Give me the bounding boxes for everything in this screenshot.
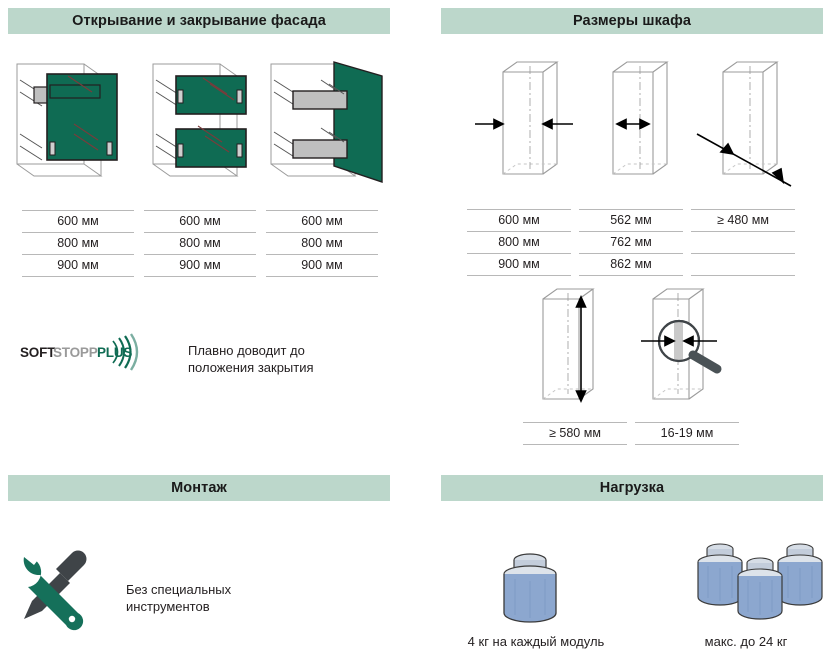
panel-thickness: 16-19 мм xyxy=(635,422,739,445)
panel-mounting-title: Монтаж xyxy=(8,475,390,501)
logo-soft-text: SOFT xyxy=(20,345,56,360)
cabinet-diagram-depth xyxy=(681,56,816,191)
panel-facade: Открывание и закрывание фасада xyxy=(8,8,390,364)
table-row: 900 мм xyxy=(22,254,134,277)
panel-load: Нагрузка xyxy=(441,475,823,661)
panel-mounting: Монтаж Без специальных инструментов xyxy=(8,475,390,661)
cabinet-outer-width: 600 мм 800 мм 900 мм xyxy=(467,209,571,276)
load-caption-single: 4 кг на каждый модуль xyxy=(441,634,631,649)
table-row: 900 мм xyxy=(467,253,571,276)
logo-plus-text: PLUS xyxy=(97,345,132,360)
table-row: 862 мм xyxy=(579,253,683,276)
weight-icon xyxy=(485,541,575,631)
load-caption-multi: макс. до 24 кг xyxy=(671,634,821,649)
mounting-description: Без специальных инструментов xyxy=(126,581,306,615)
cabinet-height: ≥ 580 мм xyxy=(523,422,627,445)
table-row: 800 мм xyxy=(266,232,378,254)
facade-widths-1: 600 мм 800 мм 900 мм xyxy=(22,210,134,277)
panel-cabinet-body: 600 мм 800 мм 900 мм 562 мм 762 мм 862 м… xyxy=(441,34,823,454)
table-row: 16-19 мм xyxy=(635,422,739,445)
table-row: 900 мм xyxy=(144,254,256,277)
softstopp-plus-logo: SOFT STOPP PLUS xyxy=(14,329,144,375)
mounting-description-line1: Без специальных xyxy=(126,581,306,598)
facade-illustration-closed xyxy=(12,54,142,189)
panel-cabinet-title: Размеры шкафа xyxy=(441,8,823,34)
softstopp-description-line2: положения закрытия xyxy=(188,359,368,376)
table-row: 800 мм xyxy=(144,232,256,254)
weights-group-icon xyxy=(684,531,831,631)
panel-cabinet: Размеры шкафа xyxy=(441,8,823,454)
cabinet-diagram-thickness xyxy=(621,279,771,414)
table-row: 600 мм xyxy=(144,210,256,232)
cabinet-depth: ≥ 480 мм xyxy=(691,209,795,276)
inner-width-arrow xyxy=(617,120,649,129)
cabinet-diagram-height xyxy=(511,279,631,414)
width-arrow xyxy=(475,120,573,129)
table-row: 800 мм xyxy=(467,231,571,253)
panel-mounting-body: Без специальных инструментов xyxy=(8,501,390,661)
facade-widths-3: 600 мм 800 мм 900 мм xyxy=(266,210,378,277)
table-row: 562 мм xyxy=(579,209,683,231)
facade-widths-2: 600 мм 800 мм 900 мм xyxy=(144,210,256,277)
table-row: 762 мм xyxy=(579,231,683,253)
table-row: 600 мм xyxy=(467,209,571,231)
table-row xyxy=(691,253,795,276)
table-row: 900 мм xyxy=(266,254,378,277)
facade-illustration-open xyxy=(266,54,396,189)
panel-facade-body: 600 мм 800 мм 900 мм 600 мм 800 мм 900 м… xyxy=(8,34,390,364)
mounting-description-line2: инструментов xyxy=(126,598,306,615)
panel-load-body: 4 кг на каждый модуль макс. до 24 кг xyxy=(441,501,823,661)
logo-stopp-text: STOPP xyxy=(53,345,98,360)
height-arrow xyxy=(577,297,586,401)
mounting-tools-illustration xyxy=(14,539,114,634)
softstopp-description-line1: Плавно доводит до xyxy=(188,342,368,359)
cabinet-inner-width: 562 мм 762 мм 862 мм xyxy=(579,209,683,276)
table-row: 800 мм xyxy=(22,232,134,254)
softstopp-description: Плавно доводит до положения закрытия xyxy=(188,342,368,376)
table-row: 600 мм xyxy=(266,210,378,232)
table-row: ≥ 580 мм xyxy=(523,422,627,445)
table-row: ≥ 480 мм xyxy=(691,209,795,231)
panel-facade-title: Открывание и закрывание фасада xyxy=(8,8,390,34)
table-row xyxy=(691,231,795,253)
facade-illustration-split xyxy=(148,54,273,189)
table-row: 600 мм xyxy=(22,210,134,232)
panel-load-title: Нагрузка xyxy=(441,475,823,501)
